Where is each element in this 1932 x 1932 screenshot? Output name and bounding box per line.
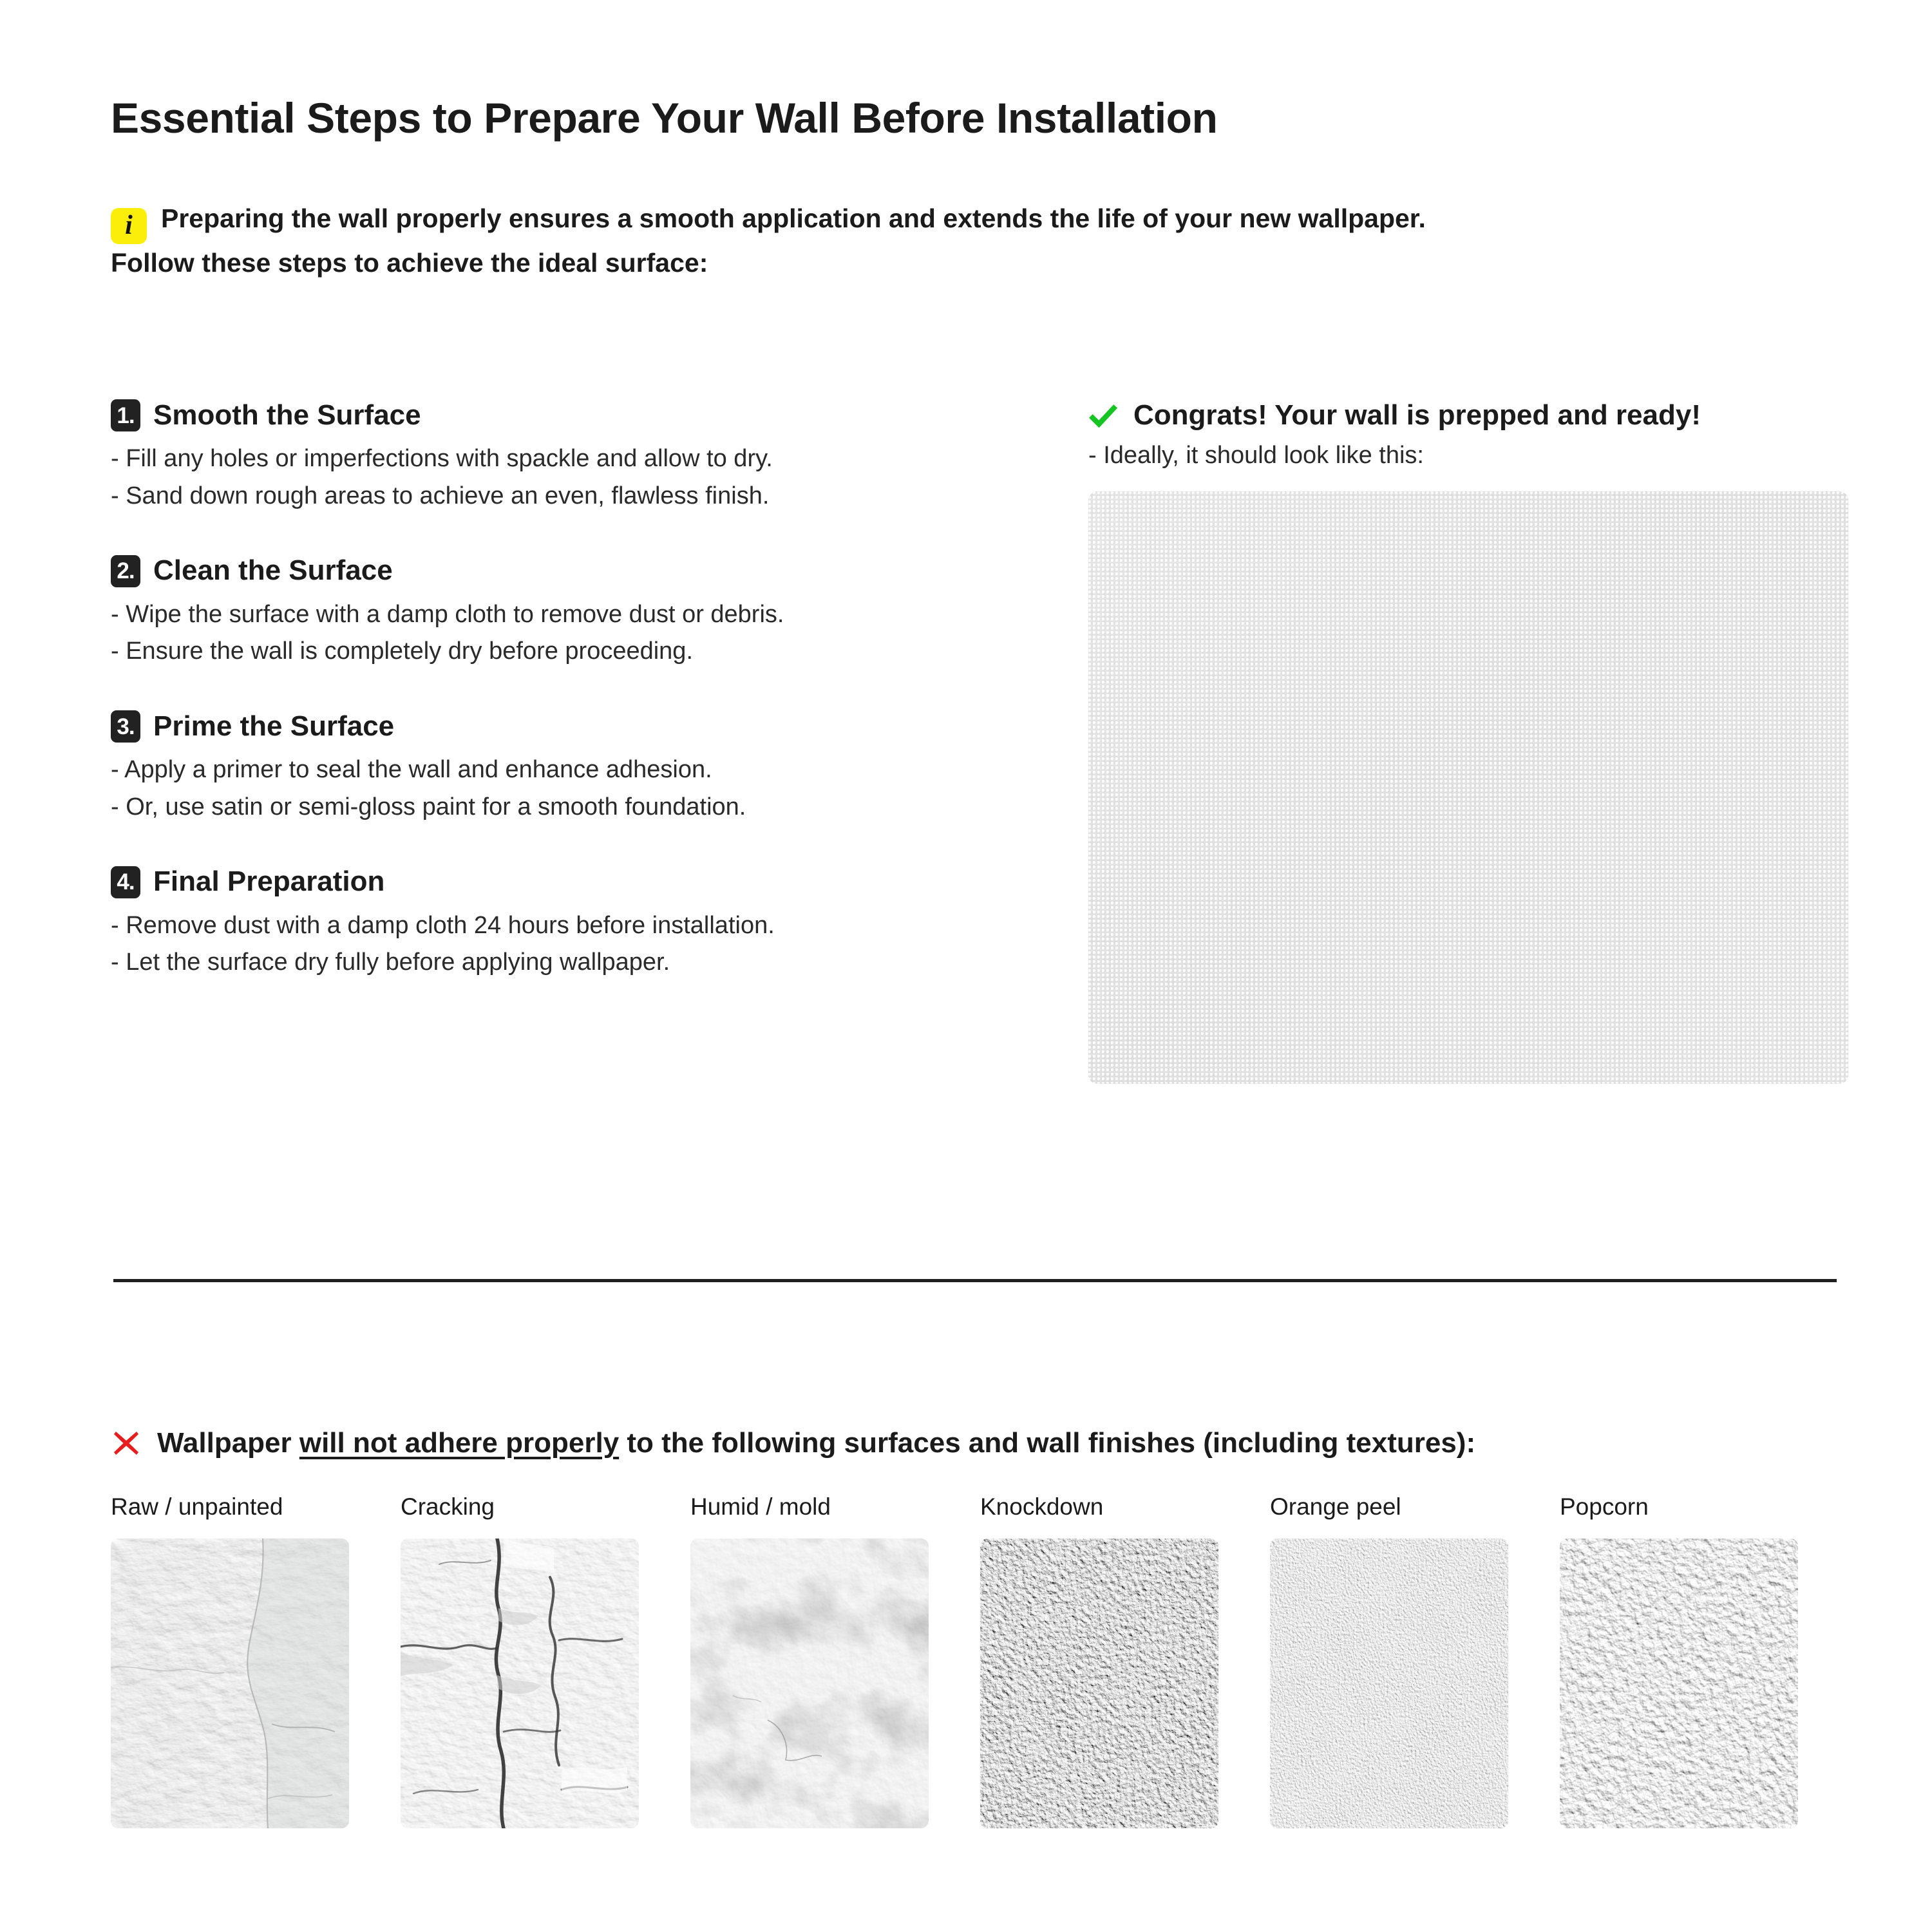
warning-text-after: to the following surfaces and wall finis… <box>619 1427 1475 1459</box>
check-icon <box>1088 401 1118 430</box>
surface-image-raw-plaster <box>111 1539 349 1828</box>
step-4: 4. Final Preparation - Remove dust with … <box>111 866 1012 982</box>
step-3: 3. Prime the Surface - Apply a primer to… <box>111 710 1012 826</box>
step-1-header: 1. Smooth the Surface <box>111 399 1012 431</box>
result-column: Congrats! Your wall is prepped and ready… <box>1088 399 1848 1084</box>
warning-text-before: Wallpaper <box>157 1427 299 1459</box>
surface-cell-orange-peel: Orange peel <box>1270 1494 1560 1828</box>
step-4-header: 4. Final Preparation <box>111 866 1012 898</box>
surface-caption-orange-peel: Orange peel <box>1270 1494 1560 1520</box>
surface-cell-raw-unpainted: Raw / unpainted <box>111 1494 401 1828</box>
step-1-line-1: - Fill any holes or imperfections with s… <box>111 440 1012 478</box>
surface-caption-cracking: Cracking <box>401 1494 690 1520</box>
step-2-header: 2. Clean the Surface <box>111 555 1012 587</box>
surface-image-mold-speckle <box>690 1539 929 1828</box>
result-title: Congrats! Your wall is prepped and ready… <box>1133 399 1701 431</box>
surface-caption-popcorn: Popcorn <box>1560 1494 1850 1520</box>
step-2-line-1: - Wipe the surface with a damp cloth to … <box>111 596 1012 634</box>
intro-paragraph: iPreparing the wall properly ensures a s… <box>111 200 1837 281</box>
step-2-line-2: - Ensure the wall is completely dry befo… <box>111 633 1012 670</box>
result-header: Congrats! Your wall is prepped and ready… <box>1088 399 1848 431</box>
surface-thumbnail-row: Raw / unpainted <box>111 1494 1850 1828</box>
info-icon: i <box>111 208 147 244</box>
surface-cell-knockdown: Knockdown <box>980 1494 1270 1828</box>
step-1-line-2: - Sand down rough areas to achieve an ev… <box>111 478 1012 515</box>
step-2-title: Clean the Surface <box>153 555 393 586</box>
section-divider <box>113 1279 1837 1282</box>
step-2-number-badge: 2. <box>111 555 140 587</box>
warning-text: Wallpaper will not adhere properly to th… <box>157 1427 1475 1459</box>
step-3-number-badge: 3. <box>111 710 140 743</box>
surface-cell-cracking: Cracking <box>401 1494 690 1828</box>
step-4-line-1: - Remove dust with a damp cloth 24 hours… <box>111 907 1012 945</box>
surface-caption-humid-mold: Humid / mold <box>690 1494 980 1520</box>
step-3-line-2: - Or, use satin or semi-gloss paint for … <box>111 789 1012 826</box>
step-3-header: 3. Prime the Surface <box>111 710 1012 743</box>
intro-line-1: Preparing the wall properly ensures a sm… <box>161 204 1426 233</box>
surface-cell-humid-mold: Humid / mold <box>690 1494 980 1828</box>
step-4-line-2: - Let the surface dry fully before apply… <box>111 944 1012 981</box>
step-2: 2. Clean the Surface - Wipe the surface … <box>111 555 1012 671</box>
step-1-number-badge: 1. <box>111 399 140 431</box>
surface-caption-knockdown: Knockdown <box>980 1494 1270 1520</box>
step-3-title: Prime the Surface <box>153 711 394 742</box>
step-1: 1. Smooth the Surface - Fill any holes o… <box>111 399 1012 515</box>
step-4-title: Final Preparation <box>153 866 384 897</box>
surface-image-orange-peel <box>1270 1539 1508 1828</box>
result-subtitle: - Ideally, it should look like this: <box>1088 442 1848 469</box>
surface-caption-raw-unpainted: Raw / unpainted <box>111 1494 401 1520</box>
surface-image-popcorn <box>1560 1539 1798 1828</box>
surface-image-knockdown <box>980 1539 1218 1828</box>
wall-prep-infographic: Essential Steps to Prepare Your Wall Bef… <box>0 0 1932 1932</box>
x-icon <box>111 1428 142 1459</box>
step-4-number-badge: 4. <box>111 866 140 898</box>
warning-text-underlined: will not adhere properly <box>299 1427 619 1459</box>
step-1-title: Smooth the Surface <box>153 400 421 431</box>
intro-line-2: Follow these steps to achieve the ideal … <box>111 248 708 278</box>
surface-image-cracking-paint <box>401 1539 639 1828</box>
step-3-line-1: - Apply a primer to seal the wall and en… <box>111 752 1012 789</box>
page-title: Essential Steps to Prepare Your Wall Bef… <box>111 93 1218 142</box>
warning-header: Wallpaper will not adhere properly to th… <box>111 1427 1850 1459</box>
surface-cell-popcorn: Popcorn <box>1560 1494 1850 1828</box>
prepped-wall-preview <box>1088 491 1848 1084</box>
steps-column: 1. Smooth the Surface - Fill any holes o… <box>111 399 1012 981</box>
